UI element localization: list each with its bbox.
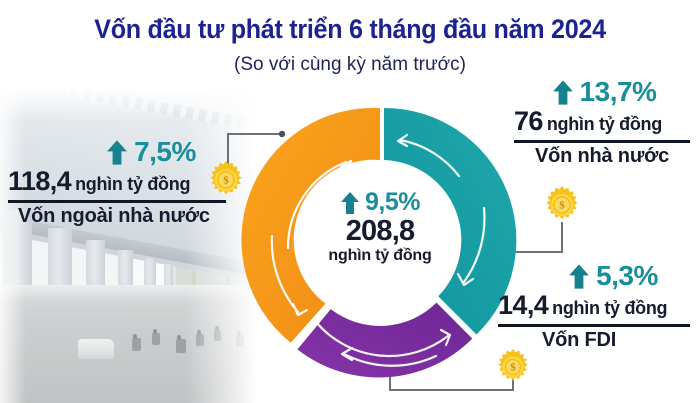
nonstate-unit: nghìn tỷ đồng <box>75 174 190 195</box>
nonstate-amount-row: 118,4 nghìn tỷ đồng <box>8 166 238 197</box>
state-growth-row: 13,7% <box>514 78 694 106</box>
state-label: Vốn nhà nước <box>514 145 690 168</box>
state-amount-row: 76 nghìn tỷ đồng <box>514 106 694 137</box>
fdi-label: Vốn FDI <box>542 329 616 352</box>
nonstate-label: Vốn ngoài nhà nước <box>8 205 238 228</box>
center-total-stat: 9,5% 208,8 nghìn tỷ đồng <box>300 190 460 265</box>
stat-block-nonstate: 7,5% 118,4 nghìn tỷ đồng Vốn ngoài nhà n… <box>8 138 238 228</box>
coin-dollar-icon: $ <box>542 185 582 225</box>
state-value: 76 <box>514 106 543 137</box>
fdi-label-row: Vốn FDI <box>498 329 698 352</box>
fdi-amount-row: 14,4 nghìn tỷ đồng <box>498 290 698 321</box>
nonstate-growth-percent: 7,5% <box>134 138 196 166</box>
svg-text:$: $ <box>559 200 565 212</box>
nonstate-divider <box>8 200 226 203</box>
arrow-up-icon <box>552 79 574 106</box>
state-growth-percent: 13,7% <box>580 78 657 106</box>
arrow-up-icon <box>340 191 360 215</box>
stat-block-state: 13,7% 76 nghìn tỷ đồng Vốn nhà nước <box>514 78 694 168</box>
center-total-value: 208,8 <box>300 215 460 247</box>
arrow-up-icon <box>568 263 590 290</box>
fdi-unit: nghìn tỷ đồng <box>552 298 667 319</box>
state-divider <box>514 140 690 143</box>
nonstate-value: 118,4 <box>8 166 71 197</box>
center-total-unit: nghìn tỷ đồng <box>300 247 460 265</box>
stat-block-fdi: 5,3% 14,4 nghìn tỷ đồng Vốn FDI <box>498 262 698 352</box>
nonstate-growth-row: 7,5% <box>8 138 238 166</box>
center-growth-row: 9,5% <box>300 190 460 215</box>
fdi-divider <box>498 324 690 327</box>
center-growth-percent: 9,5% <box>365 190 420 215</box>
fdi-growth-row: 5,3% <box>498 262 698 290</box>
arrow-up-icon <box>106 139 128 166</box>
infographic-canvas: Vốn đầu tư phát triển 6 tháng đầu năm 20… <box>0 0 700 403</box>
state-unit: nghìn tỷ đồng <box>547 114 662 135</box>
fdi-growth-percent: 5,3% <box>596 262 658 290</box>
fdi-value: 14,4 <box>498 290 548 321</box>
